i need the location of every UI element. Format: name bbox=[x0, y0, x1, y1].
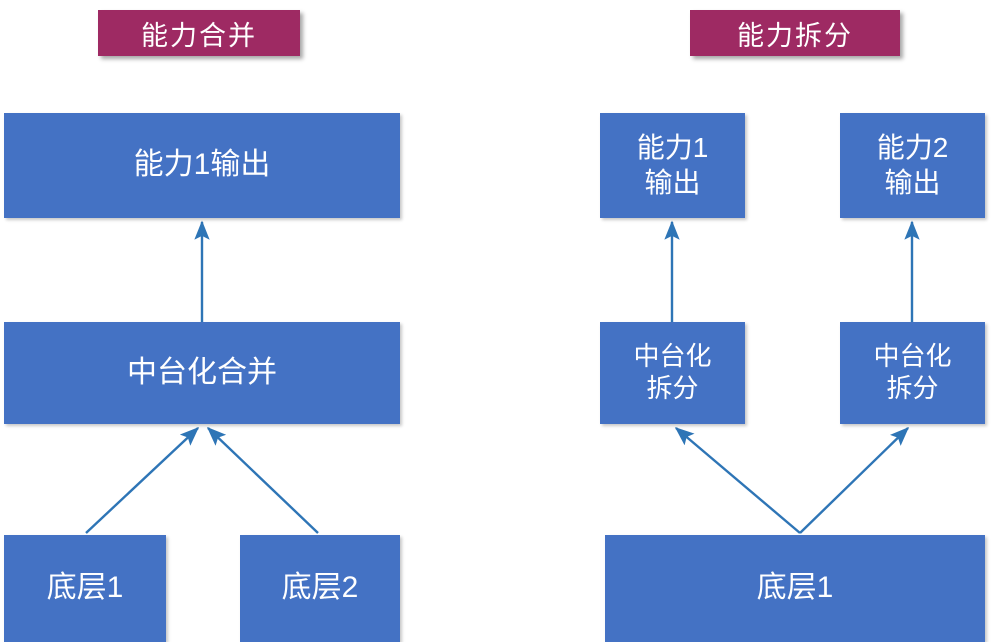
panel-title-merge: 能力合并 bbox=[98, 10, 300, 56]
split-base-node-1: 底层1 bbox=[605, 535, 985, 642]
merge-base-node-2: 底层2 bbox=[240, 535, 400, 642]
diagram-canvas: 能力合并能力1输出中台化合并底层1底层2能力拆分能力1 输出能力2 输出中台化 … bbox=[0, 0, 1000, 642]
panel-title-split: 能力拆分 bbox=[690, 10, 900, 56]
merge-platform-node: 中台化合并 bbox=[4, 322, 400, 424]
split-platform-node-1: 中台化 拆分 bbox=[600, 322, 745, 424]
split-platform-node-2: 中台化 拆分 bbox=[840, 322, 985, 424]
split-output-node-1: 能力1 输出 bbox=[600, 113, 745, 218]
merge-base-node-1: 底层1 bbox=[4, 535, 166, 642]
split-arrow-base-to-platform1 bbox=[676, 428, 800, 533]
split-output-node-2: 能力2 输出 bbox=[840, 113, 985, 218]
merge-output-node: 能力1输出 bbox=[4, 113, 400, 218]
split-arrow-base-to-platform2 bbox=[800, 428, 908, 533]
merge-arrow-base1-to-platform bbox=[86, 428, 198, 533]
merge-arrow-base2-to-platform bbox=[208, 428, 318, 533]
